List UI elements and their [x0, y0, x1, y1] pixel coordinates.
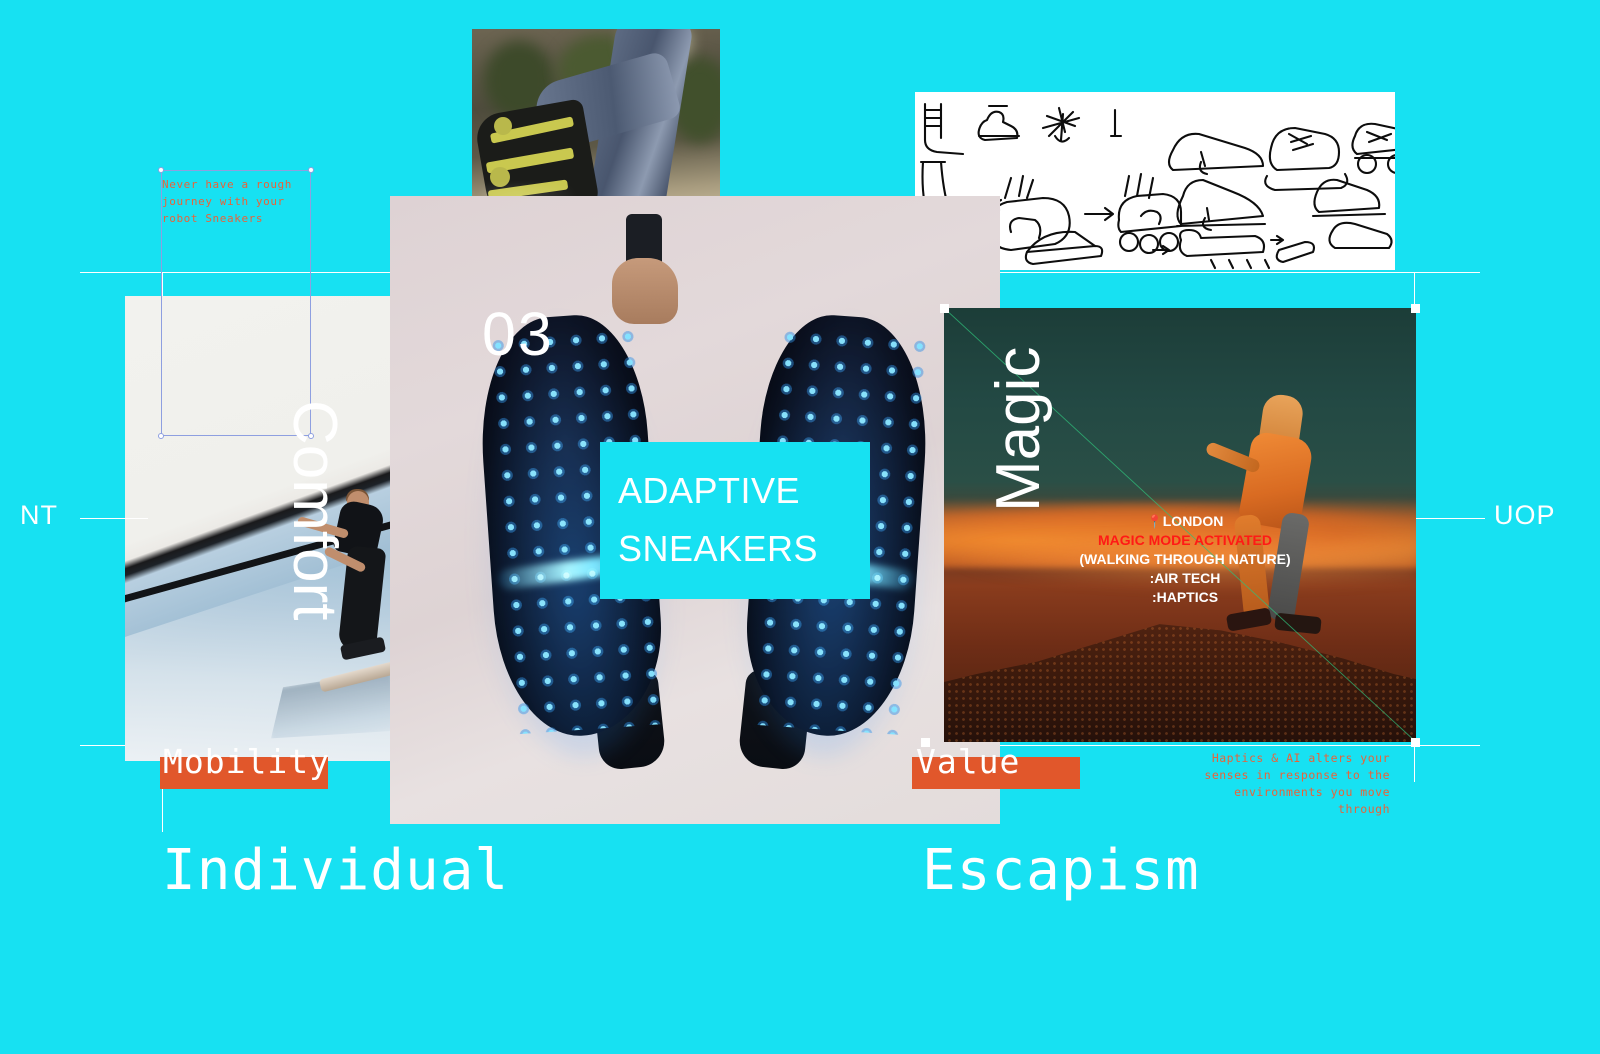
overlay-location: LONDON	[1163, 513, 1224, 529]
vertical-label-comfort: Comfort	[283, 400, 345, 620]
crop-handle-top-right[interactable]	[1411, 304, 1420, 313]
hand-holding-phone	[602, 214, 688, 330]
tag-label-mobility: Mobility	[163, 742, 330, 781]
magic-mode-overlay: 📍LONDON MAGIC MODE ACTIVATED (WALKING TH…	[1070, 512, 1300, 607]
edge-label-right: UOP	[1494, 500, 1556, 531]
slide-number: 03	[482, 299, 554, 369]
tag-label-value: Value	[916, 742, 1020, 781]
vertical-label-magic: Magic	[988, 347, 1050, 512]
edge-label-left: NT	[20, 500, 58, 531]
overlay-location-row: 📍LONDON	[1070, 512, 1300, 531]
headline-box: ADAPTIVE SNEAKERS	[600, 442, 870, 599]
crop-handle-bottom-right[interactable]	[1411, 738, 1420, 747]
moodboard-canvas: 📍LONDON MAGIC MODE ACTIVATED (WALKING TH…	[0, 0, 1600, 1054]
overlay-feature-air-tech: :AIR TECH	[1070, 569, 1300, 588]
overlay-feature-haptics: :HAPTICS	[1070, 588, 1300, 607]
edge-line-left	[80, 518, 148, 519]
headline-line-2: SNEAKERS	[618, 528, 818, 570]
bottom-word-escapism: Escapism	[922, 838, 1200, 903]
edge-line-right	[1425, 518, 1485, 519]
headline-line-1: ADAPTIVE	[618, 470, 800, 512]
haptics-ai-note: Haptics & AI alters your senses in respo…	[1185, 750, 1390, 818]
skate-buckle-2	[490, 167, 510, 187]
overlay-context: (WALKING THROUGH NATURE)	[1070, 550, 1300, 569]
note-handle-top-right[interactable]	[308, 167, 314, 173]
robot-sneakers-note: Never have a rough journey with your rob…	[162, 176, 312, 227]
note-handle-top-left[interactable]	[158, 167, 164, 173]
overlay-status: MAGIC MODE ACTIVATED	[1070, 531, 1300, 550]
skate-buckle-1	[494, 117, 512, 135]
crop-handle-top-left[interactable]	[940, 304, 949, 313]
map-pin-icon: 📍	[1147, 514, 1163, 529]
bottom-word-individual: Individual	[162, 838, 509, 903]
note-handle-bottom-left[interactable]	[158, 433, 164, 439]
